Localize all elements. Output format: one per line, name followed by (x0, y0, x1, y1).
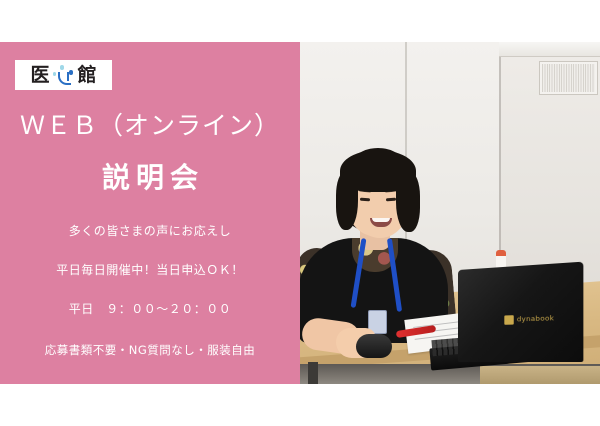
bullet-line-1: 多くの皆さまの声にお応えし (0, 223, 300, 239)
bullet-line-4: 応募書類不要・NG質問なし・服装自由 (0, 342, 300, 358)
headline-web: ＷＥＢ（オンライン） (0, 112, 300, 142)
bullet-line-3: 平日 ９：００〜２０：００ (0, 301, 300, 317)
logo-kanji-left: 医 (30, 66, 49, 85)
bullet-line-2: 平日毎日開催中！当日申込ＯＫ！ (0, 262, 300, 278)
hair-side-right (396, 172, 420, 232)
hair-side-left (336, 172, 358, 230)
bottle-cap (496, 250, 506, 256)
headline-session: 説明会 (0, 162, 300, 196)
logo-kanji-right: 館 (78, 66, 97, 85)
dynabook-logo: dynabook (504, 312, 569, 325)
dynabook-mark-icon (504, 315, 513, 325)
computer-mouse (356, 334, 392, 358)
wall-vent-icon (540, 62, 597, 94)
ceiling-soffit (499, 42, 600, 57)
ishinkan-logo: 医 館 (15, 60, 112, 90)
desk-leg (308, 362, 318, 384)
kokoro-mark-icon (52, 64, 76, 86)
laptop-lid: dynabook (458, 262, 583, 362)
pink-text-panel: 医 館 ＷＥＢ（オンライン） 説明会 多くの皆さまの声にお応えし 平日毎日開催中… (0, 42, 300, 384)
promo-banner: 医 館 ＷＥＢ（オンライン） 説明会 多くの皆さまの声にお応えし 平日毎日開催中… (0, 42, 600, 384)
online-interview-photo: dynabook (300, 42, 600, 384)
floor-strip (480, 366, 600, 384)
dynabook-wordmark: dynabook (517, 314, 554, 324)
